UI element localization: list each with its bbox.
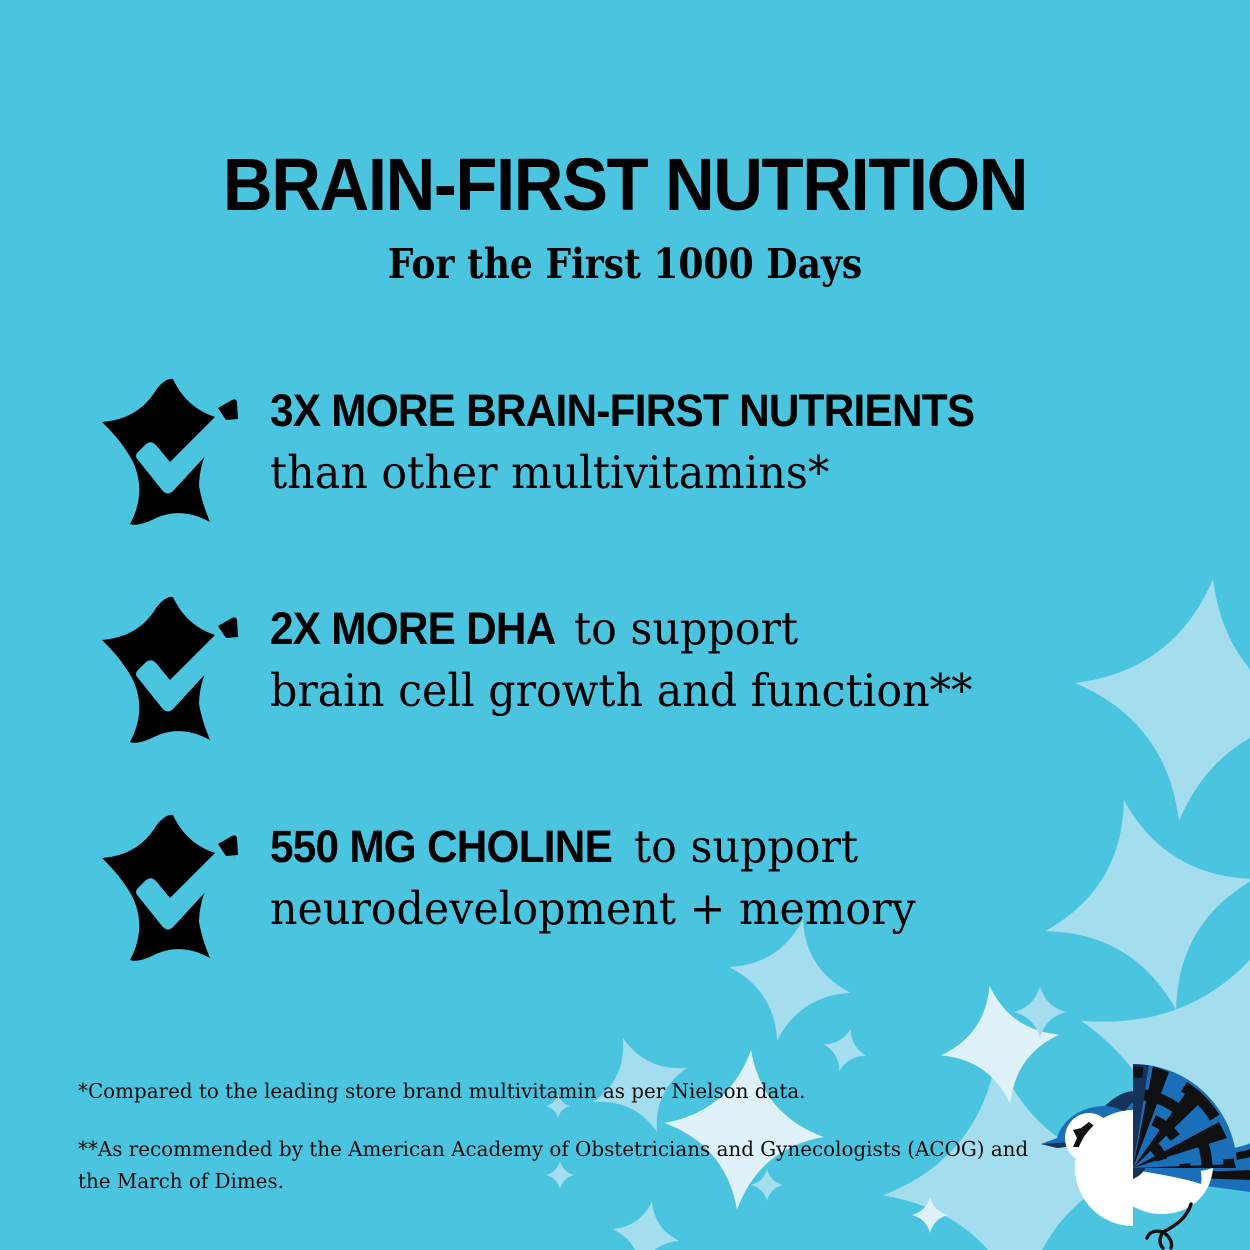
benefit-line-1: 550 MG CHOLINE to support — [270, 824, 1250, 870]
footnotes: *Compared to the leading store brand mul… — [78, 1076, 1058, 1197]
benefit-list: 3X MORE BRAIN-FIRST NUTRIENTS than other… — [0, 374, 1250, 962]
benefit-strong: 3X MORE BRAIN-FIRST NUTRIENTS — [270, 388, 974, 434]
benefit-line-1: 3X MORE BRAIN-FIRST NUTRIENTS — [270, 388, 1250, 434]
decorative-star — [818, 1023, 872, 1077]
infographic-poster: BRAIN-FIRST NUTRITION For the First 1000… — [0, 0, 1250, 1250]
page-title: BRAIN-FIRST NUTRITION — [44, 148, 1207, 222]
benefit-line-2: neurodevelopment + memory — [270, 886, 1201, 932]
benefit-strong: 2X MORE DHA — [270, 606, 556, 652]
decorative-star — [1014, 986, 1066, 1038]
check-badge-icon — [100, 594, 248, 744]
benefit-text: 3X MORE BRAIN-FIRST NUTRIENTS than other… — [270, 374, 1250, 496]
benefit-text: 2X MORE DHA to support brain cell growth… — [270, 592, 1250, 714]
footnote-single-asterisk: *Compared to the leading store brand mul… — [78, 1076, 1029, 1108]
benefit-line-2: than other multivitamins* — [270, 450, 1201, 496]
benefit-text: 550 MG CHOLINE to support neurodevelopme… — [270, 810, 1250, 932]
benefit-line-1: 2X MORE DHA to support — [270, 606, 1250, 652]
check-badge-icon — [100, 812, 248, 962]
blue-jay-illustration — [1041, 1052, 1250, 1250]
decorative-star — [607, 1196, 686, 1250]
page-subtitle: For the First 1000 Days — [75, 244, 1175, 285]
benefit-light: to support — [634, 824, 858, 870]
benefit-light: to support — [574, 606, 798, 652]
benefit-line-2: brain cell growth and function** — [270, 668, 1201, 714]
benefit-item: 3X MORE BRAIN-FIRST NUTRIENTS than other… — [0, 374, 1250, 526]
benefit-strong: 550 MG CHOLINE — [270, 824, 612, 870]
benefit-item: 2X MORE DHA to support brain cell growth… — [0, 592, 1250, 744]
benefit-item: 550 MG CHOLINE to support neurodevelopme… — [0, 810, 1250, 962]
check-badge-icon — [100, 376, 248, 526]
footnote-double-asterisk: **As recommended by the American Academy… — [78, 1134, 1029, 1198]
header: BRAIN-FIRST NUTRITION For the First 1000… — [0, 148, 1250, 285]
decorative-star — [912, 1197, 948, 1233]
